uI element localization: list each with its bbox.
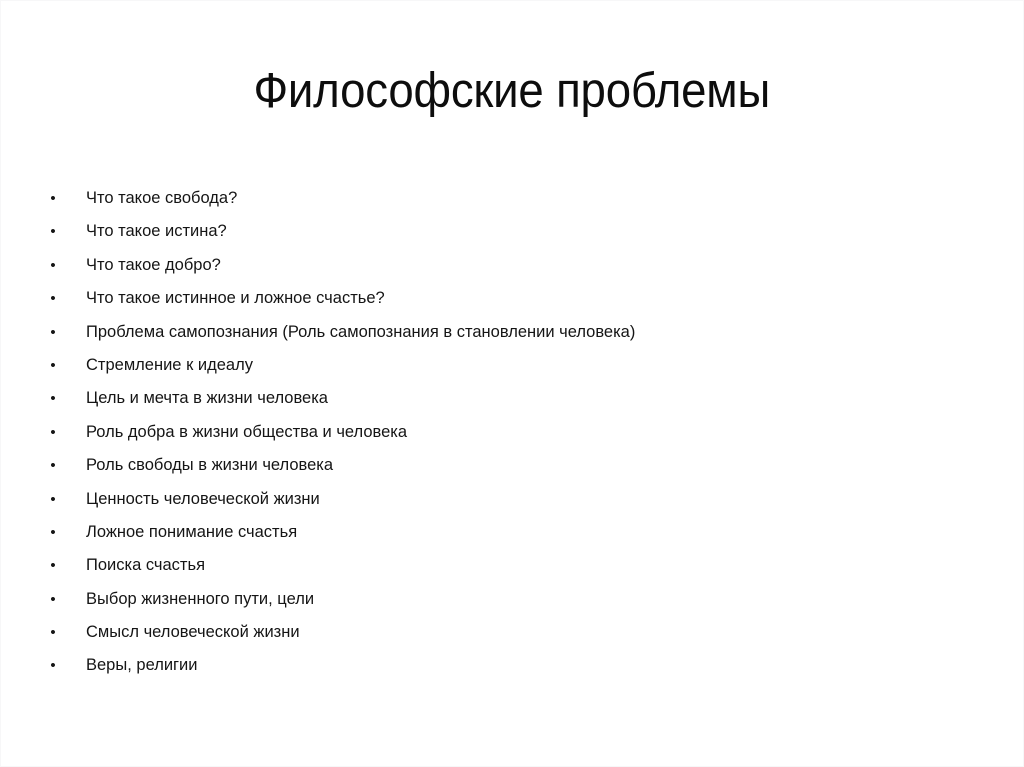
list-item: • Ложное понимание счастья xyxy=(41,516,983,549)
bullet-dot-icon: • xyxy=(47,616,59,649)
bullet-dot-icon: • xyxy=(47,249,59,282)
bullet-dot-icon: • xyxy=(47,182,59,215)
list-item-label: Ложное понимание счастья xyxy=(86,516,297,549)
bullet-dot-icon: • xyxy=(47,382,59,415)
bullet-dot-icon: • xyxy=(47,282,59,315)
bullet-dot-icon: • xyxy=(47,416,59,449)
bullet-dot-icon: • xyxy=(47,583,59,616)
list-item: • Что такое свобода? xyxy=(41,182,983,215)
list-item-label: Проблема самопознания (Роль самопознания… xyxy=(86,316,635,349)
slide-body: • Что такое свобода? • Что такое истина?… xyxy=(41,182,983,683)
list-item: • Что такое истина? xyxy=(41,215,983,248)
list-item-label: Что такое добро? xyxy=(86,249,221,282)
list-item: • Цель и мечта в жизни человека xyxy=(41,382,983,415)
list-item-label: Что такое истинное и ложное счастье? xyxy=(86,282,385,315)
bullet-dot-icon: • xyxy=(47,549,59,582)
list-item: • Поиска счастья xyxy=(41,549,983,582)
bullet-dot-icon: • xyxy=(47,349,59,382)
slide-canvas: Философские проблемы • Что такое свобода… xyxy=(0,0,1024,767)
bullet-dot-icon: • xyxy=(47,449,59,482)
list-item-label: Что такое истина? xyxy=(86,215,227,248)
list-item: • Что такое истинное и ложное счастье? xyxy=(41,282,983,315)
list-item-label: Роль свободы в жизни человека xyxy=(86,449,333,482)
list-item: • Ценность человеческой жизни xyxy=(41,483,983,516)
bullet-dot-icon: • xyxy=(47,516,59,549)
bullet-dot-icon: • xyxy=(47,316,59,349)
bullet-list: • Что такое свобода? • Что такое истина?… xyxy=(41,182,983,683)
list-item: • Проблема самопознания (Роль самопознан… xyxy=(41,316,983,349)
page-title: Философские проблемы xyxy=(254,66,771,117)
list-item: • Что такое добро? xyxy=(41,249,983,282)
list-item: • Роль свободы в жизни человека xyxy=(41,449,983,482)
list-item-label: Цель и мечта в жизни человека xyxy=(86,382,328,415)
list-item: • Роль добра в жизни общества и человека xyxy=(41,416,983,449)
list-item: • Веры, религии xyxy=(41,649,983,682)
list-item: • Выбор жизненного пути, цели xyxy=(41,583,983,616)
list-item-label: Смысл человеческой жизни xyxy=(86,616,300,649)
bullet-dot-icon: • xyxy=(47,215,59,248)
list-item-label: Веры, религии xyxy=(86,649,198,682)
slide-title: Философские проблемы xyxy=(1,61,1023,123)
list-item-label: Поиска счастья xyxy=(86,549,205,582)
list-item-label: Стремление к идеалу xyxy=(86,349,253,382)
list-item-label: Ценность человеческой жизни xyxy=(86,483,320,516)
list-item-label: Роль добра в жизни общества и человека xyxy=(86,416,407,449)
bullet-dot-icon: • xyxy=(47,649,59,682)
list-item-label: Что такое свобода? xyxy=(86,182,237,215)
list-item-label: Выбор жизненного пути, цели xyxy=(86,583,314,616)
list-item: • Смысл человеческой жизни xyxy=(41,616,983,649)
bullet-dot-icon: • xyxy=(47,483,59,516)
list-item: • Стремление к идеалу xyxy=(41,349,983,382)
